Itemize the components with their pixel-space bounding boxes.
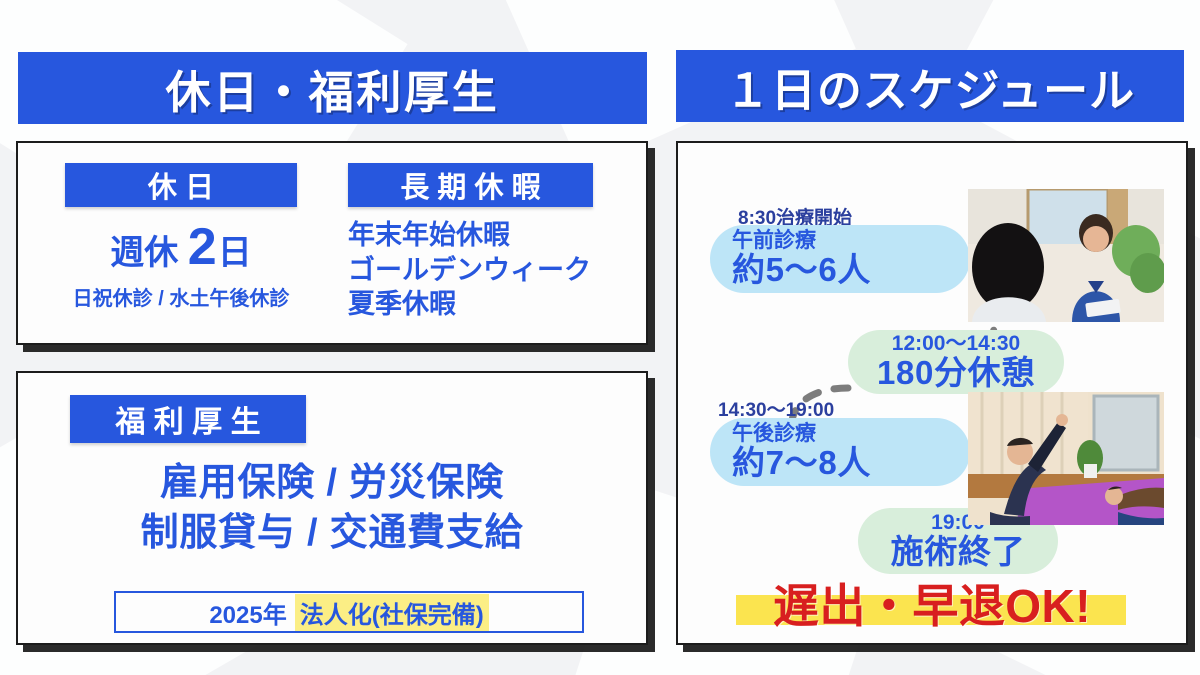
list-item: 年末年始休暇 xyxy=(348,218,628,253)
right-section-banner: １日のスケジュール xyxy=(676,50,1184,122)
holiday-column: 休日 週休 2日 日祝休診 / 水土午後休診 xyxy=(46,163,316,311)
pill-subtitle: 12:00〜14:30 xyxy=(892,332,1020,355)
holiday-heading: 休日 xyxy=(65,163,297,207)
list-item: 雇用保険 / 労災保険 xyxy=(18,458,646,508)
list-item: 夏季休暇 xyxy=(348,287,628,322)
list-item: ゴールデンウィーク xyxy=(348,253,628,288)
long-vacation-list: 年末年始休暇 ゴールデンウィーク 夏季休暇 xyxy=(348,218,628,322)
benefits-card: 福利厚生 雇用保険 / 労災保険 制服貸与 / 交通費支給 2025年 法人化(… xyxy=(16,371,648,645)
pill-subtitle: 午後診療 xyxy=(732,422,970,445)
schedule-pill-afternoon: 午後診療 約7〜8人 xyxy=(710,418,970,486)
schedule-pill-break: 12:00〜14:30 180分休憩 xyxy=(848,330,1064,394)
week-prefix: 週休 xyxy=(110,234,178,272)
benefits-list: 雇用保険 / 労災保険 制服貸与 / 交通費支給 xyxy=(18,458,646,558)
pill-subtitle: 午前診療 xyxy=(732,229,970,252)
incorporation-year: 2025年 xyxy=(209,595,286,630)
treatment-photo xyxy=(968,392,1164,525)
pill-value: 約7〜8人 xyxy=(732,445,970,482)
long-vacation-column: 長期休暇 年末年始休暇 ゴールデンウィーク 夏季休暇 xyxy=(348,163,628,322)
incorporation-note-box: 2025年 法人化(社保完備) xyxy=(114,591,584,633)
consultation-photo xyxy=(968,189,1164,322)
list-item: 制服貸与 / 交通費支給 xyxy=(18,508,646,558)
benefits-heading: 福利厚生 xyxy=(70,395,306,443)
week-number: 2 xyxy=(188,218,218,276)
weekly-holiday-line: 週休 2日 xyxy=(46,221,316,273)
incorporation-highlight: 法人化(社保完備) xyxy=(295,594,489,631)
slogan-text: 遅出・早退OK! xyxy=(773,570,1091,636)
slogan-row: 遅出・早退OK! xyxy=(678,573,1186,633)
pill-value: 施術終了 xyxy=(891,534,1026,571)
holiday-note: 日祝休診 / 水土午後休診 xyxy=(46,282,316,311)
holiday-card: 休日 週休 2日 日祝休診 / 水土午後休診 長期休暇 年末年始休暇 ゴールデン… xyxy=(16,141,648,345)
week-suffix: 日 xyxy=(218,234,252,272)
pill-value: 180分休憩 xyxy=(877,355,1035,392)
schedule-card: 8:30治療開始 午前診療 約5〜6人 12:00〜14:30 180分休憩 1… xyxy=(676,141,1188,645)
long-vacation-heading: 長期休暇 xyxy=(348,163,593,207)
left-section-banner: 休日・福利厚生 xyxy=(18,52,647,124)
schedule-pill-morning: 午前診療 約5〜6人 xyxy=(710,225,970,293)
pill-value: 約5〜6人 xyxy=(732,252,970,289)
